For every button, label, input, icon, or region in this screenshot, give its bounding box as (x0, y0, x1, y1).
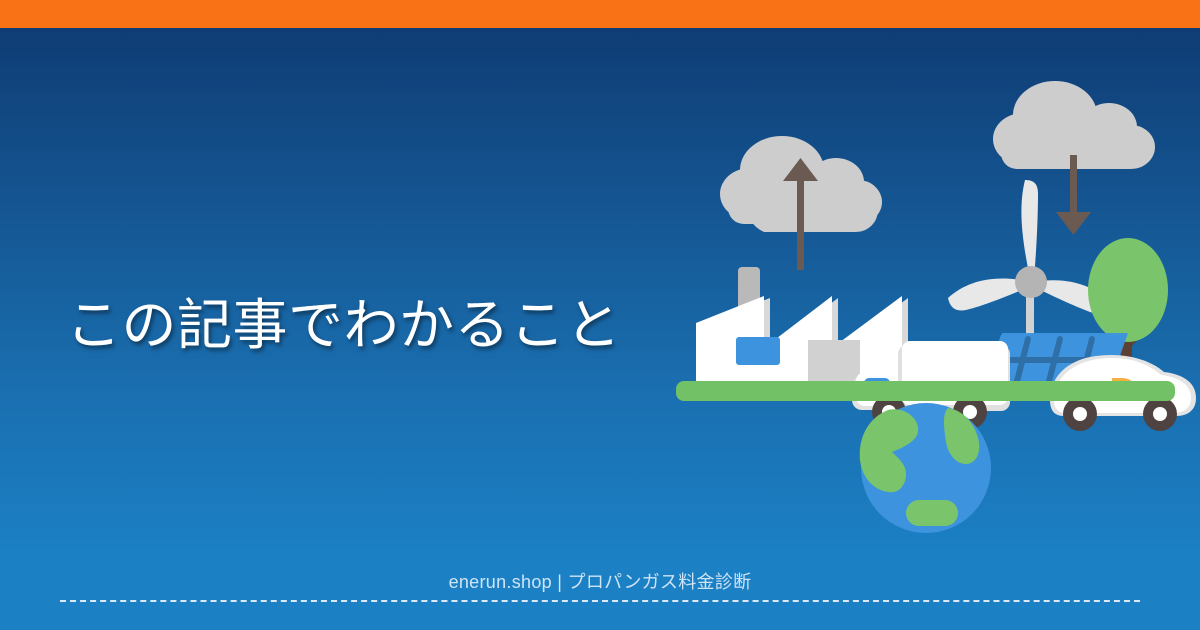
footer-text: enerun.shop | プロパンガス料金診断 (449, 570, 752, 594)
illustration (630, 60, 1200, 560)
page-title: この記事でわかること (66, 295, 666, 357)
earth-globe (860, 403, 991, 533)
cloud-with-up-arrow (720, 136, 882, 270)
footer: enerun.shop | プロパンガス料金診断 (0, 570, 1200, 594)
footer-divider (60, 600, 1140, 602)
top-accent-bar (0, 0, 1200, 28)
slide-canvas: この記事でわかること (0, 0, 1200, 630)
ground-bar (676, 381, 1175, 401)
cloud-with-down-arrow (993, 81, 1155, 235)
